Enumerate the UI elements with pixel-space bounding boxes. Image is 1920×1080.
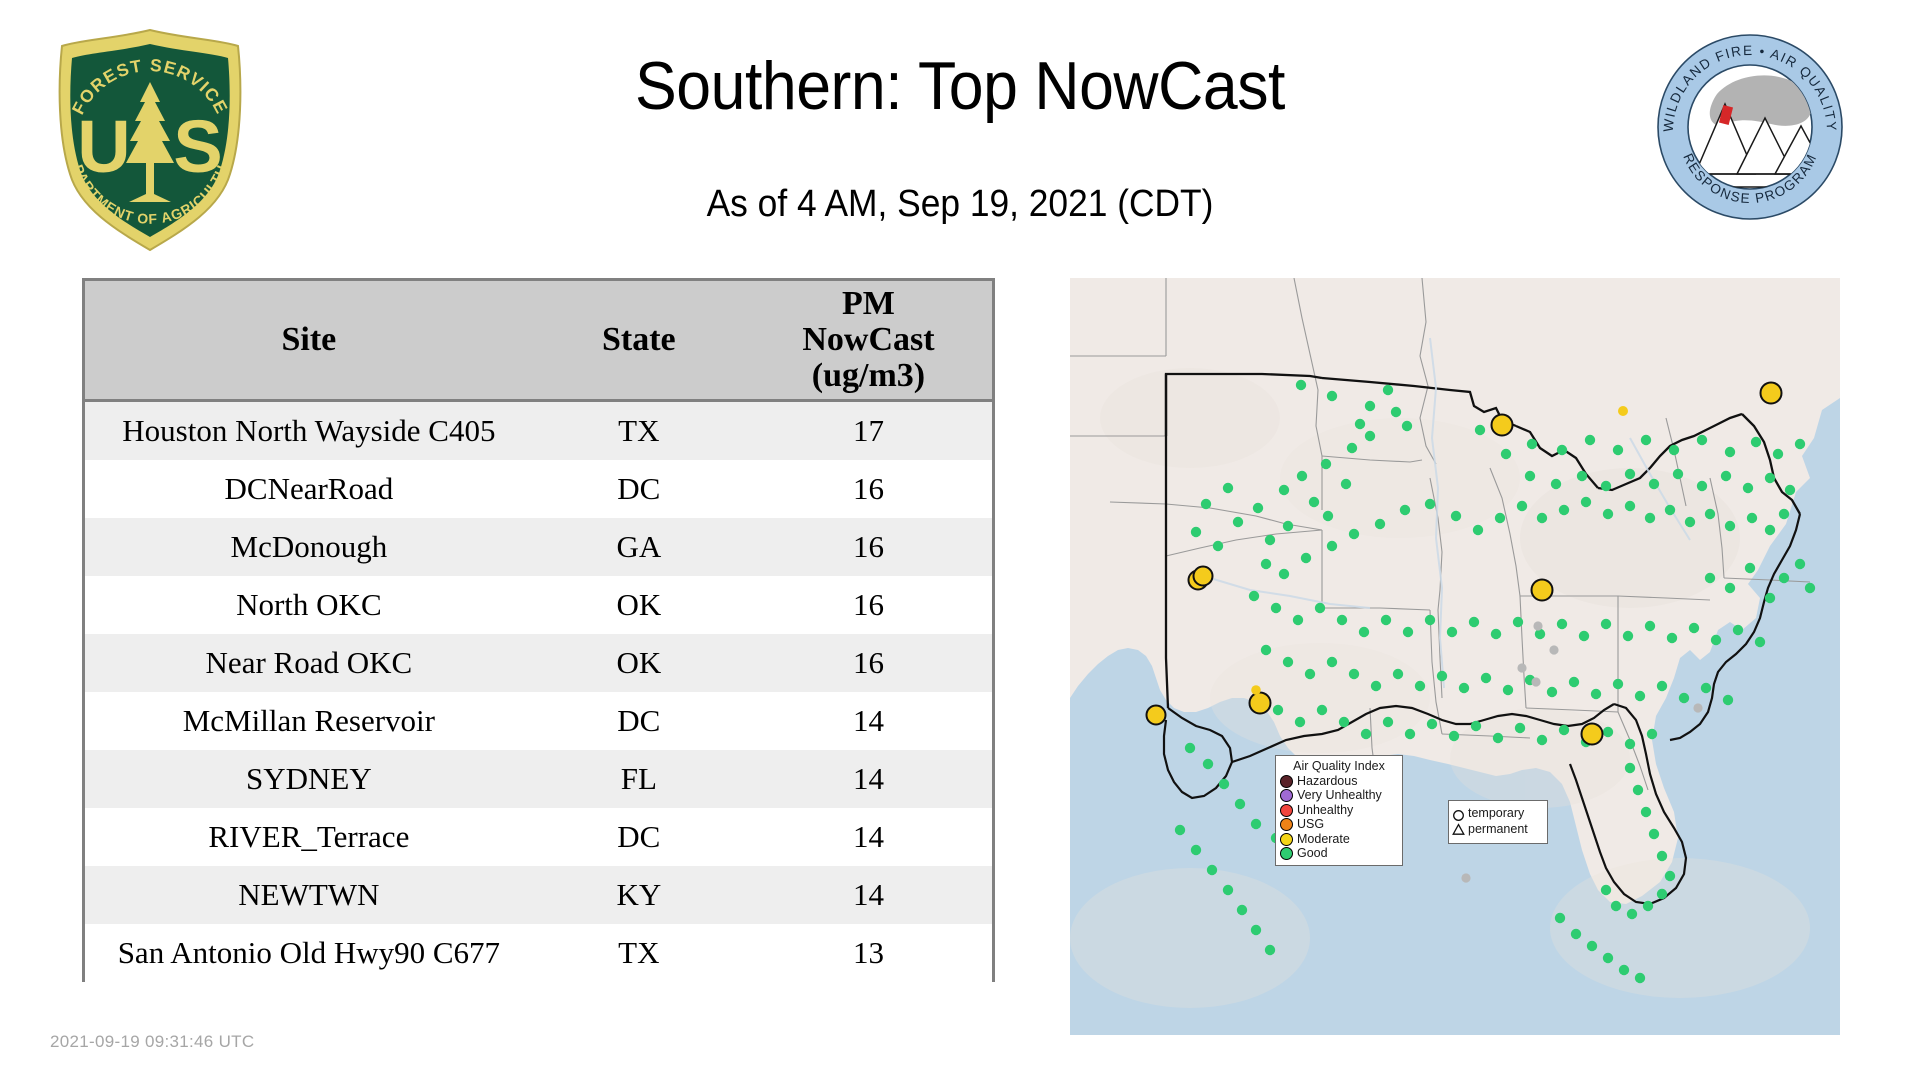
monitor-marker-good[interactable] bbox=[1381, 615, 1391, 625]
monitor-marker-good[interactable] bbox=[1619, 965, 1629, 975]
site-cell: DCNearRoad bbox=[85, 460, 533, 518]
monitor-marker-good[interactable] bbox=[1327, 657, 1337, 667]
column-header-site: Site bbox=[85, 281, 533, 401]
monitor-marker-good[interactable] bbox=[1555, 913, 1565, 923]
monitor-marker-good[interactable] bbox=[1473, 525, 1483, 535]
monitor-marker-good[interactable] bbox=[1223, 885, 1233, 895]
monitor-marker-good[interactable] bbox=[1649, 829, 1659, 839]
monitor-marker-good[interactable] bbox=[1383, 385, 1393, 395]
table-header-row: Site State PM NowCast (ug/m3) bbox=[85, 281, 992, 401]
aqi-legend-swatch bbox=[1280, 818, 1293, 831]
pm-value-cell: 16 bbox=[745, 634, 992, 692]
monitor-marker-good[interactable] bbox=[1747, 513, 1757, 523]
monitor-marker-good[interactable] bbox=[1705, 509, 1715, 519]
monitor-marker-good[interactable] bbox=[1635, 691, 1645, 701]
monitor-marker-good[interactable] bbox=[1765, 593, 1775, 603]
monitor-marker-good[interactable] bbox=[1400, 505, 1410, 515]
site-cell: San Antonio Old Hwy90 C677 bbox=[85, 924, 533, 982]
monitor-marker-good[interactable] bbox=[1375, 519, 1385, 529]
monitor-marker-good[interactable] bbox=[1657, 851, 1667, 861]
monitor-marker-good[interactable] bbox=[1393, 669, 1403, 679]
monitor-marker-good[interactable] bbox=[1337, 615, 1347, 625]
aqi-legend-title: Air Quality Index bbox=[1280, 759, 1398, 773]
monitor-marker-good[interactable] bbox=[1627, 909, 1637, 919]
monitor-marker-good[interactable] bbox=[1481, 673, 1491, 683]
pm-value-cell: 16 bbox=[745, 576, 992, 634]
monitor-marker-good[interactable] bbox=[1191, 527, 1201, 537]
monitor-marker-good[interactable] bbox=[1725, 521, 1735, 531]
monitor-marker-good[interactable] bbox=[1251, 819, 1261, 829]
monitor-marker-good[interactable] bbox=[1611, 901, 1621, 911]
page-subtitle-timestamp: As of 4 AM, Sep 19, 2021 (CDT) bbox=[467, 185, 1453, 223]
state-cell: OK bbox=[533, 576, 745, 634]
monitor-marker-good[interactable] bbox=[1669, 445, 1679, 455]
monitor-marker-good[interactable] bbox=[1203, 759, 1213, 769]
monitor-marker-good[interactable] bbox=[1559, 505, 1569, 515]
permanent-triangle-icon bbox=[1452, 823, 1465, 836]
monitor-marker-good[interactable] bbox=[1449, 731, 1459, 741]
monitor-marker-good[interactable] bbox=[1571, 929, 1581, 939]
monitor-marker-good[interactable] bbox=[1219, 779, 1229, 789]
monitor-marker-good[interactable] bbox=[1447, 627, 1457, 637]
wfaqrp-circle-icon: WILDLAND FIRE • AIR QUALITY RESPONSE PRO… bbox=[1655, 32, 1845, 222]
usfs-shield-icon: U S FOREST SERVICE DEPARTMENT OF AGRICUL… bbox=[52, 24, 248, 256]
aqi-legend-swatch bbox=[1280, 804, 1293, 817]
monitor-marker-moderate[interactable] bbox=[1761, 383, 1782, 404]
aqi-legend-item: Good bbox=[1280, 847, 1398, 862]
pm-header-line2: NowCast bbox=[802, 321, 934, 358]
monitor-marker-good[interactable] bbox=[1493, 733, 1503, 743]
aqi-legend-label: USG bbox=[1297, 817, 1324, 832]
aqi-legend-items: HazardousVery UnhealthyUnhealthyUSGModer… bbox=[1280, 774, 1398, 861]
site-cell: North OKC bbox=[85, 576, 533, 634]
monitor-marker-good[interactable] bbox=[1513, 617, 1523, 627]
monitor-marker-good[interactable] bbox=[1537, 513, 1547, 523]
monitor-marker-good[interactable] bbox=[1295, 717, 1305, 727]
monitor-marker-good[interactable] bbox=[1191, 845, 1201, 855]
monitor-marker-good[interactable] bbox=[1185, 743, 1195, 753]
monitor-marker-good[interactable] bbox=[1391, 407, 1401, 417]
monitor-marker-good[interactable] bbox=[1537, 735, 1547, 745]
monitor-marker-good[interactable] bbox=[1579, 631, 1589, 641]
monitor-marker-offline[interactable] bbox=[1533, 621, 1542, 630]
monitor-marker-good[interactable] bbox=[1581, 497, 1591, 507]
slide-canvas: U S FOREST SERVICE DEPARTMENT OF AGRICUL… bbox=[0, 0, 1920, 1080]
monitor-marker-good[interactable] bbox=[1469, 617, 1479, 627]
column-header-pm-nowcast: PM NowCast (ug/m3) bbox=[745, 281, 992, 401]
monitor-marker-good[interactable] bbox=[1641, 435, 1651, 445]
monitor-marker-good[interactable] bbox=[1685, 517, 1695, 527]
monitor-marker-good[interactable] bbox=[1403, 627, 1413, 637]
monitor-marker-good[interactable] bbox=[1279, 569, 1289, 579]
monitor-marker-good[interactable] bbox=[1701, 683, 1711, 693]
monitor-marker-good[interactable] bbox=[1625, 501, 1635, 511]
site-type-legend: temporary permanent bbox=[1448, 800, 1548, 844]
aqi-legend-item: USG bbox=[1280, 818, 1398, 833]
monitor-marker-good[interactable] bbox=[1557, 445, 1567, 455]
aqi-legend-item: Moderate bbox=[1280, 832, 1398, 847]
monitor-marker-moderate[interactable] bbox=[1251, 685, 1261, 695]
monitor-marker-good[interactable] bbox=[1643, 901, 1653, 911]
monitor-marker-good[interactable] bbox=[1321, 459, 1331, 469]
monitor-marker-good[interactable] bbox=[1261, 559, 1271, 569]
monitor-marker-good[interactable] bbox=[1271, 603, 1281, 613]
site-cell: NEWTWN bbox=[85, 866, 533, 924]
site-cell: McMillan Reservoir bbox=[85, 692, 533, 750]
monitor-marker-good[interactable] bbox=[1657, 681, 1667, 691]
monitor-marker-good[interactable] bbox=[1623, 631, 1633, 641]
monitor-marker-good[interactable] bbox=[1601, 619, 1611, 629]
aqi-legend-swatch bbox=[1280, 789, 1293, 802]
monitor-marker-good[interactable] bbox=[1415, 681, 1425, 691]
table-row: NEWTWNKY14 bbox=[85, 866, 992, 924]
monitor-marker-good[interactable] bbox=[1265, 945, 1275, 955]
pm-value-cell: 17 bbox=[745, 401, 992, 461]
monitor-marker-good[interactable] bbox=[1657, 889, 1667, 899]
monitor-marker-good[interactable] bbox=[1805, 583, 1815, 593]
monitor-marker-good[interactable] bbox=[1679, 693, 1689, 703]
monitor-marker-good[interactable] bbox=[1795, 559, 1805, 569]
monitor-marker-offline[interactable] bbox=[1549, 645, 1558, 654]
state-cell: GA bbox=[533, 518, 745, 576]
monitor-marker-good[interactable] bbox=[1207, 865, 1217, 875]
monitor-marker-good[interactable] bbox=[1309, 497, 1319, 507]
monitor-marker-good[interactable] bbox=[1249, 591, 1259, 601]
monitor-marker-good[interactable] bbox=[1475, 425, 1485, 435]
wfaqrp-logo: WILDLAND FIRE • AIR QUALITY RESPONSE PRO… bbox=[1655, 32, 1845, 222]
monitor-marker-good[interactable] bbox=[1603, 727, 1613, 737]
monitor-marker-good[interactable] bbox=[1365, 401, 1375, 411]
nowcast-table-container: Site State PM NowCast (ug/m3) Houston No… bbox=[82, 278, 995, 982]
monitor-marker-good[interactable] bbox=[1725, 447, 1735, 457]
monitor-marker-good[interactable] bbox=[1317, 705, 1327, 715]
monitor-marker-good[interactable] bbox=[1765, 525, 1775, 535]
monitor-marker-good[interactable] bbox=[1751, 437, 1761, 447]
page-title: Southern: Top NowCast bbox=[472, 52, 1447, 120]
site-cell: Near Road OKC bbox=[85, 634, 533, 692]
monitor-marker-moderate[interactable] bbox=[1194, 567, 1213, 586]
monitor-marker-good[interactable] bbox=[1601, 481, 1611, 491]
monitor-marker-good[interactable] bbox=[1755, 637, 1765, 647]
aqi-legend-swatch bbox=[1280, 833, 1293, 846]
site-cell: SYDNEY bbox=[85, 750, 533, 808]
monitor-marker-good[interactable] bbox=[1515, 723, 1525, 733]
aqi-legend-swatch bbox=[1280, 847, 1293, 860]
state-cell: OK bbox=[533, 634, 745, 692]
map-canvas[interactable] bbox=[1070, 278, 1840, 1035]
pm-value-cell: 14 bbox=[745, 692, 992, 750]
monitor-marker-good[interactable] bbox=[1641, 807, 1651, 817]
state-cell: FL bbox=[533, 750, 745, 808]
monitor-marker-good[interactable] bbox=[1625, 739, 1635, 749]
monitor-marker-good[interactable] bbox=[1635, 973, 1645, 983]
monitor-marker-good[interactable] bbox=[1503, 685, 1513, 695]
aqi-legend: Air Quality Index HazardousVery Unhealth… bbox=[1275, 755, 1403, 866]
monitor-marker-good[interactable] bbox=[1495, 513, 1505, 523]
monitor-marker-good[interactable] bbox=[1383, 717, 1393, 727]
monitor-marker-good[interactable] bbox=[1402, 421, 1412, 431]
aqi-legend-label: Hazardous bbox=[1297, 774, 1357, 789]
monitor-marker-good[interactable] bbox=[1233, 517, 1243, 527]
temporary-circle-icon bbox=[1452, 809, 1465, 822]
monitor-marker-good[interactable] bbox=[1667, 633, 1677, 643]
monitor-marker-good[interactable] bbox=[1625, 469, 1635, 479]
monitor-marker-moderate[interactable] bbox=[1147, 706, 1166, 725]
site-type-temporary-label: temporary bbox=[1468, 806, 1528, 822]
state-cell: TX bbox=[533, 924, 745, 982]
aqi-legend-label: Very Unhealthy bbox=[1297, 788, 1382, 803]
monitor-marker-good[interactable] bbox=[1359, 627, 1369, 637]
monitor-marker-good[interactable] bbox=[1175, 825, 1185, 835]
monitor-marker-good[interactable] bbox=[1327, 391, 1337, 401]
monitor-marker-good[interactable] bbox=[1251, 925, 1261, 935]
monitor-marker-good[interactable] bbox=[1237, 905, 1247, 915]
monitor-marker-good[interactable] bbox=[1665, 505, 1675, 515]
monitor-marker-good[interactable] bbox=[1279, 485, 1289, 495]
monitor-marker-offline[interactable] bbox=[1517, 663, 1526, 672]
monitor-marker-good[interactable] bbox=[1301, 553, 1311, 563]
monitor-marker-good[interactable] bbox=[1349, 529, 1359, 539]
monitor-marker-good[interactable] bbox=[1517, 501, 1527, 511]
pm-header-line3: (ug/m3) bbox=[812, 357, 925, 394]
monitor-marker-good[interactable] bbox=[1601, 885, 1611, 895]
monitor-marker-good[interactable] bbox=[1235, 799, 1245, 809]
monitor-marker-good[interactable] bbox=[1649, 479, 1659, 489]
monitor-marker-good[interactable] bbox=[1296, 380, 1306, 390]
monitor-marker-good[interactable] bbox=[1779, 573, 1789, 583]
monitor-marker-good[interactable] bbox=[1347, 443, 1357, 453]
monitor-marker-good[interactable] bbox=[1201, 499, 1211, 509]
monitor-marker-offline[interactable] bbox=[1693, 703, 1702, 712]
monitor-marker-good[interactable] bbox=[1625, 763, 1635, 773]
monitor-marker-good[interactable] bbox=[1795, 439, 1805, 449]
monitor-marker-good[interactable] bbox=[1711, 635, 1721, 645]
site-cell: RIVER_Terrace bbox=[85, 808, 533, 866]
monitor-marker-good[interactable] bbox=[1725, 583, 1735, 593]
aqi-map[interactable]: Air Quality Index HazardousVery Unhealth… bbox=[1070, 278, 1840, 1035]
monitor-marker-good[interactable] bbox=[1647, 729, 1657, 739]
monitor-marker-good[interactable] bbox=[1569, 677, 1579, 687]
monitor-marker-good[interactable] bbox=[1459, 683, 1469, 693]
monitor-marker-good[interactable] bbox=[1591, 689, 1601, 699]
monitor-marker-good[interactable] bbox=[1779, 509, 1789, 519]
monitor-marker-good[interactable] bbox=[1327, 541, 1337, 551]
table-row: McDonoughGA16 bbox=[85, 518, 992, 576]
monitor-marker-good[interactable] bbox=[1253, 503, 1263, 513]
monitor-marker-good[interactable] bbox=[1585, 435, 1595, 445]
table-row: San Antonio Old Hwy90 C677TX13 bbox=[85, 924, 992, 982]
monitor-marker-good[interactable] bbox=[1405, 729, 1415, 739]
site-type-glyphs bbox=[1452, 809, 1465, 836]
monitor-marker-good[interactable] bbox=[1547, 687, 1557, 697]
aqi-legend-item: Very Unhealthy bbox=[1280, 789, 1398, 804]
monitor-marker-good[interactable] bbox=[1525, 471, 1535, 481]
monitor-marker-moderate[interactable] bbox=[1492, 415, 1513, 436]
monitor-marker-good[interactable] bbox=[1323, 511, 1333, 521]
site-cell: Houston North Wayside C405 bbox=[85, 401, 533, 461]
monitor-marker-good[interactable] bbox=[1471, 721, 1481, 731]
pm-value-cell: 16 bbox=[745, 460, 992, 518]
state-cell: TX bbox=[533, 401, 745, 461]
table-row: DCNearRoadDC16 bbox=[85, 460, 992, 518]
table-head: Site State PM NowCast (ug/m3) bbox=[85, 281, 992, 401]
monitor-marker-good[interactable] bbox=[1723, 695, 1733, 705]
monitor-marker-good[interactable] bbox=[1265, 535, 1275, 545]
monitor-marker-good[interactable] bbox=[1305, 669, 1315, 679]
monitor-marker-good[interactable] bbox=[1733, 625, 1743, 635]
monitor-marker-good[interactable] bbox=[1557, 619, 1567, 629]
monitor-marker-good[interactable] bbox=[1371, 681, 1381, 691]
table-row: Near Road OKCOK16 bbox=[85, 634, 992, 692]
monitor-marker-good[interactable] bbox=[1283, 657, 1293, 667]
state-cell: DC bbox=[533, 692, 745, 750]
monitor-marker-good[interactable] bbox=[1527, 439, 1537, 449]
aqi-legend-swatch bbox=[1280, 775, 1293, 788]
monitor-marker-good[interactable] bbox=[1355, 419, 1365, 429]
monitor-marker-good[interactable] bbox=[1365, 431, 1375, 441]
monitor-marker-good[interactable] bbox=[1223, 483, 1233, 493]
table-row: Houston North Wayside C405TX17 bbox=[85, 401, 992, 461]
monitor-marker-offline[interactable] bbox=[1461, 873, 1470, 882]
state-cell: KY bbox=[533, 866, 745, 924]
monitor-marker-moderate[interactable] bbox=[1618, 406, 1628, 416]
monitor-marker-good[interactable] bbox=[1273, 705, 1283, 715]
monitor-marker-good[interactable] bbox=[1673, 469, 1683, 479]
monitor-marker-good[interactable] bbox=[1773, 449, 1783, 459]
monitor-marker-good[interactable] bbox=[1213, 541, 1223, 551]
state-cell: DC bbox=[533, 808, 745, 866]
monitor-marker-good[interactable] bbox=[1705, 573, 1715, 583]
monitor-marker-good[interactable] bbox=[1645, 513, 1655, 523]
monitor-marker-good[interactable] bbox=[1603, 953, 1613, 963]
usfs-shield-logo: U S FOREST SERVICE DEPARTMENT OF AGRICUL… bbox=[52, 24, 248, 256]
monitor-marker-good[interactable] bbox=[1785, 485, 1795, 495]
monitor-marker-good[interactable] bbox=[1361, 729, 1371, 739]
table-row: North OKCOK16 bbox=[85, 576, 992, 634]
column-header-state: State bbox=[533, 281, 745, 401]
pm-value-cell: 14 bbox=[745, 808, 992, 866]
monitor-marker-good[interactable] bbox=[1765, 473, 1775, 483]
monitor-marker-good[interactable] bbox=[1559, 725, 1569, 735]
monitor-marker-good[interactable] bbox=[1633, 785, 1643, 795]
monitor-marker-good[interactable] bbox=[1645, 621, 1655, 631]
aqi-legend-label: Unhealthy bbox=[1297, 803, 1353, 818]
aqi-legend-item: Unhealthy bbox=[1280, 803, 1398, 818]
state-cell: DC bbox=[533, 460, 745, 518]
monitor-marker-good[interactable] bbox=[1535, 629, 1545, 639]
nowcast-table: Site State PM NowCast (ug/m3) Houston No… bbox=[85, 281, 992, 982]
site-cell: McDonough bbox=[85, 518, 533, 576]
site-type-labels: temporary permanent bbox=[1468, 806, 1528, 837]
monitor-marker-good[interactable] bbox=[1425, 499, 1435, 509]
monitor-marker-good[interactable] bbox=[1297, 471, 1307, 481]
aqi-legend-label: Good bbox=[1297, 846, 1328, 861]
monitor-marker-moderate[interactable] bbox=[1532, 580, 1553, 601]
monitor-marker-good[interactable] bbox=[1587, 941, 1597, 951]
pm-value-cell: 14 bbox=[745, 750, 992, 808]
table-row: SYDNEYFL14 bbox=[85, 750, 992, 808]
monitor-marker-good[interactable] bbox=[1697, 481, 1707, 491]
monitor-marker-good[interactable] bbox=[1551, 479, 1561, 489]
monitor-marker-good[interactable] bbox=[1315, 603, 1325, 613]
monitor-marker-good[interactable] bbox=[1437, 671, 1447, 681]
table-row: RIVER_TerraceDC14 bbox=[85, 808, 992, 866]
pm-value-cell: 14 bbox=[745, 866, 992, 924]
footer-timestamp: 2021-09-19 09:31:46 UTC bbox=[50, 1032, 254, 1052]
monitor-marker-good[interactable] bbox=[1283, 521, 1293, 531]
monitor-marker-good[interactable] bbox=[1427, 719, 1437, 729]
aqi-legend-label: Moderate bbox=[1297, 832, 1350, 847]
monitor-marker-good[interactable] bbox=[1745, 563, 1755, 573]
monitor-marker-good[interactable] bbox=[1341, 479, 1351, 489]
monitor-marker-good[interactable] bbox=[1339, 717, 1349, 727]
monitor-marker-good[interactable] bbox=[1349, 669, 1359, 679]
monitor-marker-good[interactable] bbox=[1743, 483, 1753, 493]
monitor-marker-offline[interactable] bbox=[1531, 677, 1540, 686]
monitor-marker-good[interactable] bbox=[1613, 679, 1623, 689]
monitor-marker-good[interactable] bbox=[1665, 871, 1675, 881]
monitor-marker-good[interactable] bbox=[1721, 471, 1731, 481]
monitor-marker-good[interactable] bbox=[1451, 511, 1461, 521]
monitor-marker-moderate[interactable] bbox=[1582, 724, 1603, 745]
table-body: Houston North Wayside C405TX17DCNearRoad… bbox=[85, 401, 992, 983]
monitor-marker-good[interactable] bbox=[1261, 645, 1271, 655]
monitor-marker-good[interactable] bbox=[1491, 629, 1501, 639]
monitor-marker-good[interactable] bbox=[1603, 509, 1613, 519]
pm-value-cell: 16 bbox=[745, 518, 992, 576]
table-row: McMillan ReservoirDC14 bbox=[85, 692, 992, 750]
aqi-legend-item: Hazardous bbox=[1280, 774, 1398, 789]
monitor-marker-good[interactable] bbox=[1697, 435, 1707, 445]
monitor-marker-good[interactable] bbox=[1613, 445, 1623, 455]
monitor-marker-moderate[interactable] bbox=[1250, 693, 1271, 714]
monitor-marker-good[interactable] bbox=[1577, 471, 1587, 481]
monitor-marker-good[interactable] bbox=[1689, 623, 1699, 633]
monitor-marker-good[interactable] bbox=[1425, 615, 1435, 625]
monitor-marker-good[interactable] bbox=[1501, 449, 1511, 459]
pm-value-cell: 13 bbox=[745, 924, 992, 982]
pm-header-line1: PM bbox=[842, 285, 895, 322]
monitor-marker-good[interactable] bbox=[1293, 615, 1303, 625]
site-type-permanent-label: permanent bbox=[1468, 822, 1528, 838]
